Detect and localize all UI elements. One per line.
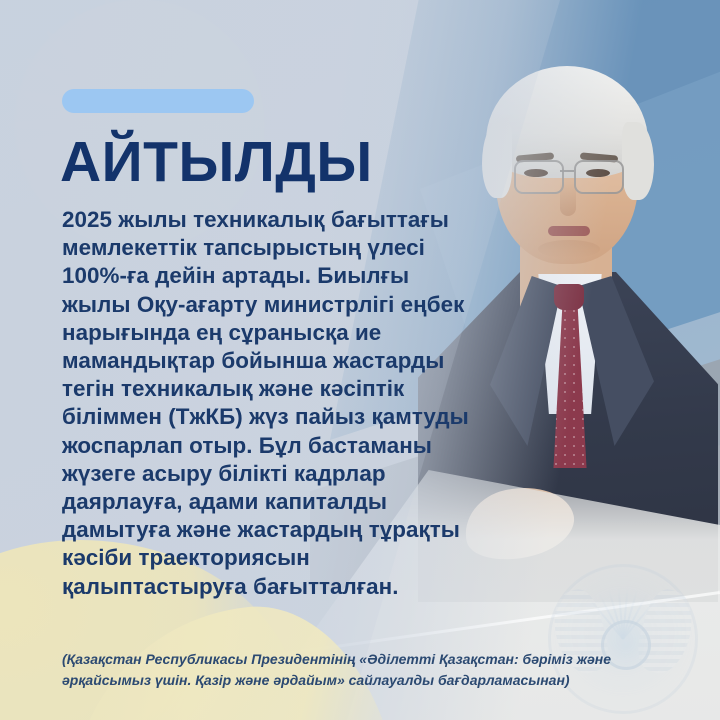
poster-content: АЙТЫЛДЫ 2025 жылы техникалық бағыттағы м… <box>0 0 720 720</box>
accent-pill <box>62 89 254 113</box>
page-title: АЙТЫЛДЫ <box>60 130 373 194</box>
source-attribution: (Қазақстан Республикасы Президентінің «Ә… <box>62 649 622 691</box>
poster-canvas: АЙТЫЛДЫ 2025 жылы техникалық бағыттағы м… <box>0 0 720 720</box>
body-paragraph: 2025 жылы техникалық бағыттағы мемлекетт… <box>62 206 482 601</box>
